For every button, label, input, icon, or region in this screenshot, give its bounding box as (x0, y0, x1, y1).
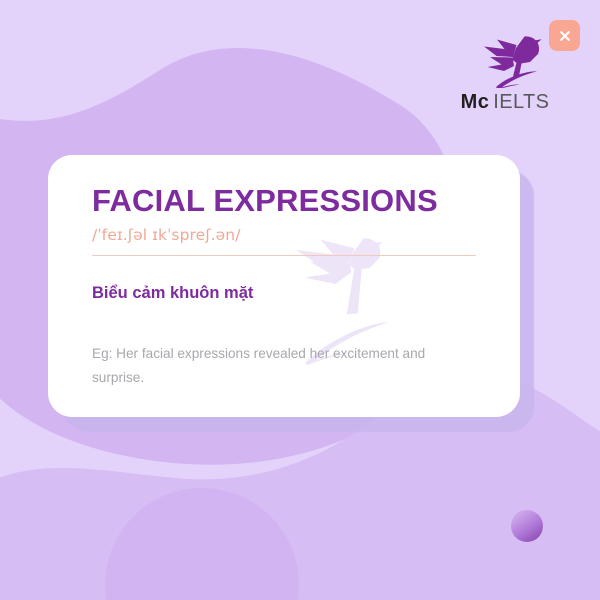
close-icon (557, 28, 573, 44)
word-example-sentence: Eg: Her facial expressions revealed her … (92, 342, 464, 390)
close-button[interactable] (549, 20, 580, 51)
brand-name-primary: Mc (461, 91, 490, 113)
card-divider (92, 255, 476, 257)
gradient-sphere (511, 510, 543, 542)
word-translation: Biểu cảm khuôn mặt (92, 284, 476, 303)
brand-wordmark: McIELTS (440, 91, 570, 114)
word-phonetic: /ˈfeɪ.ʃəl ɪkˈspreʃ.ən/ (92, 226, 476, 244)
word-title: FACIAL EXPRESSIONS (92, 185, 476, 218)
brand-name-secondary: IELTS (493, 91, 549, 113)
slide-canvas: McIELTS FACIAL EXPRESSIONS /ˈfeɪ.ʃəl ɪkˈ… (0, 0, 600, 600)
card-content: FACIAL EXPRESSIONS /ˈfeɪ.ʃəl ɪkˈspreʃ.ən… (48, 155, 520, 390)
vocabulary-card: FACIAL EXPRESSIONS /ˈfeɪ.ʃəl ɪkˈspreʃ.ən… (48, 155, 520, 417)
